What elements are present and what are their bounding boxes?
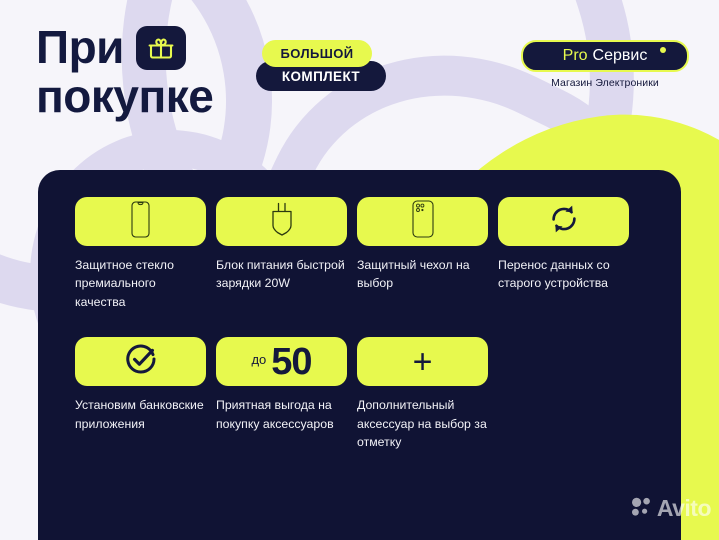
benefit-text: Установим банковские приложения bbox=[75, 396, 206, 433]
power-adapter-icon bbox=[267, 202, 297, 241]
badge-group: КОМПЛЕКТ БОЛЬШОЙ bbox=[256, 40, 386, 108]
icon-container: + bbox=[357, 337, 488, 386]
headline-line-2: покупке bbox=[36, 72, 456, 121]
logo-pill: Pro Сервис bbox=[521, 40, 689, 72]
avito-dots-icon bbox=[631, 497, 652, 521]
store-logo: Pro Сервис Магазин Электроники bbox=[521, 40, 689, 89]
benefit-text: Защитный чехол на выбор bbox=[357, 256, 488, 293]
banner-header: При покупке КОМПЛЕКТ БОЛЬШОЙ Pro bbox=[0, 0, 719, 170]
badge-bolshoy: БОЛЬШОЙ bbox=[262, 40, 372, 67]
headline: При покупке bbox=[36, 23, 456, 121]
gift-icon bbox=[136, 26, 186, 70]
plus-icon: + bbox=[413, 345, 433, 379]
promo-banner: При покупке КОМПЛЕКТ БОЛЬШОЙ Pro bbox=[0, 0, 719, 540]
benefit-text: Дополнительный аксессуар на выбор за отм… bbox=[357, 396, 488, 451]
discount-value: 50 bbox=[271, 343, 311, 381]
sync-arrows-icon bbox=[549, 204, 579, 239]
benefits-panel: Защитное стекло премиального качества Бл… bbox=[38, 170, 681, 540]
headline-row-1: При bbox=[36, 23, 456, 72]
phone-screen-icon bbox=[131, 201, 150, 243]
benefit-text: Защитное стекло премиального качества bbox=[75, 256, 206, 311]
icon-container bbox=[357, 197, 488, 246]
check-circle-icon bbox=[125, 343, 157, 380]
benefit-text: Приятная выгода на покупку аксессуаров bbox=[216, 396, 347, 433]
discount-prefix: до bbox=[251, 352, 266, 371]
benefit-card: до 50 Приятная выгода на покупку аксессу… bbox=[216, 337, 347, 451]
icon-container bbox=[75, 337, 206, 386]
benefit-text: Перенос данных со старого устройства bbox=[498, 256, 629, 293]
headline-line-1: При bbox=[36, 23, 124, 72]
logo-tagline: Магазин Электроники bbox=[521, 77, 689, 89]
benefits-grid: Защитное стекло премиального качества Бл… bbox=[75, 197, 657, 452]
benefit-card: Установим банковские приложения bbox=[75, 337, 206, 451]
benefit-card: + Дополнительный аксессуар на выбор за о… bbox=[357, 337, 488, 451]
benefit-card: Защитное стекло премиального качества bbox=[75, 197, 206, 311]
benefit-text: Блок питания быстрой зарядки 20W bbox=[216, 256, 347, 293]
phone-case-icon bbox=[412, 200, 434, 243]
icon-container bbox=[498, 197, 629, 246]
benefit-card: Перенос данных со старого устройства bbox=[498, 197, 629, 311]
logo-name-part-2: Сервис bbox=[593, 47, 648, 65]
icon-container bbox=[216, 197, 347, 246]
icon-container bbox=[75, 197, 206, 246]
benefit-card: Блок питания быстрой зарядки 20W bbox=[216, 197, 347, 311]
avito-watermark: Avito bbox=[631, 495, 711, 522]
icon-container: до 50 bbox=[216, 337, 347, 386]
avito-label: Avito bbox=[657, 495, 711, 522]
dot-icon bbox=[660, 47, 666, 53]
discount-number: до 50 bbox=[251, 343, 311, 381]
benefit-card: Защитный чехол на выбор bbox=[357, 197, 488, 311]
logo-name-part-1: Pro bbox=[563, 47, 588, 65]
